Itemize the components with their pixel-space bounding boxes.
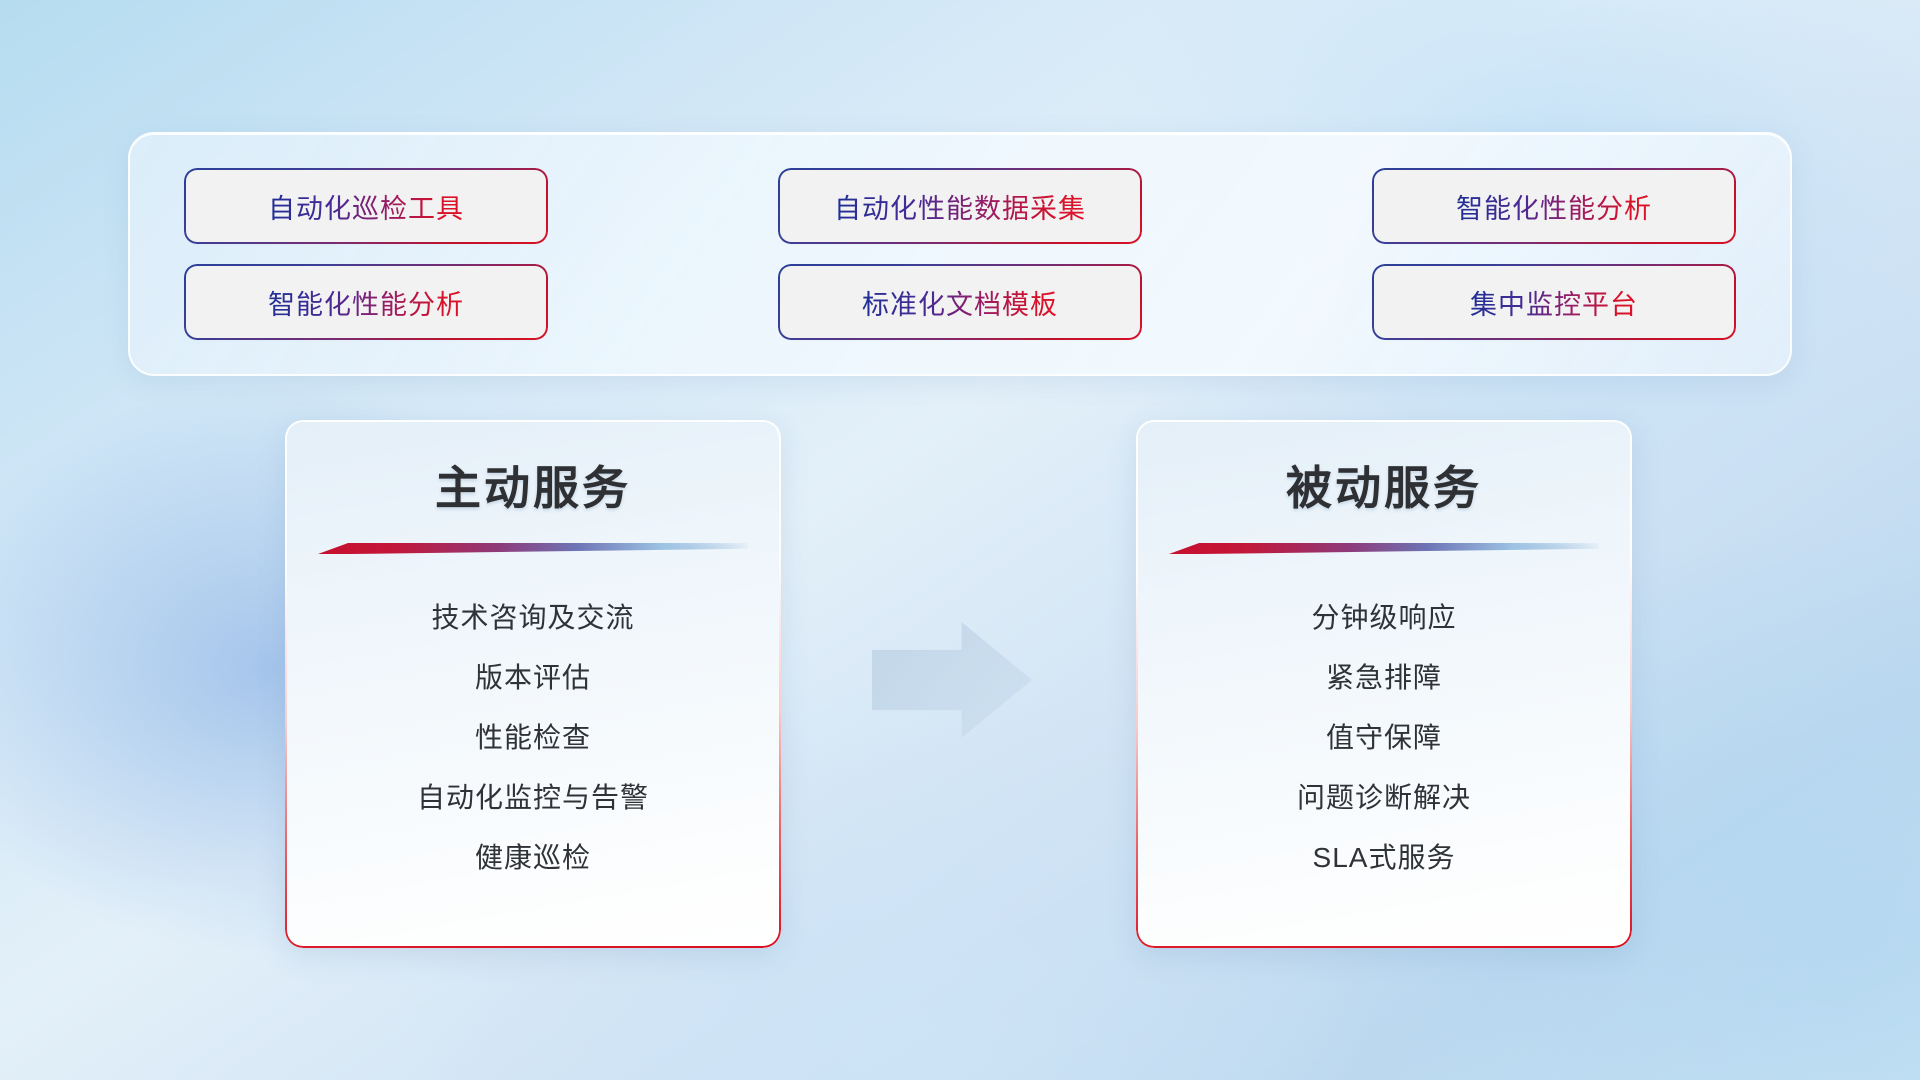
capability-tag[interactable]: 自动化巡检工具 xyxy=(186,170,546,242)
capability-tag-label: 标准化文档模板 xyxy=(862,283,1058,322)
title-divider xyxy=(1169,543,1599,554)
service-item: 技术咨询及交流 xyxy=(285,586,781,646)
service-item-list: 技术咨询及交流 版本评估 性能检查 自动化监控与告警 健康巡检 xyxy=(285,586,781,886)
capability-tag-label: 自动化性能数据采集 xyxy=(834,187,1086,226)
service-item: 值守保障 xyxy=(1136,706,1632,766)
card-title: 主动服务 xyxy=(285,452,781,518)
capabilities-panel: 自动化巡检工具 自动化性能数据采集 智能化性能分析 智能化性能分析 标准化文档模… xyxy=(128,132,1792,376)
capability-tag[interactable]: 智能化性能分析 xyxy=(186,266,546,338)
service-item: 分钟级响应 xyxy=(1136,586,1632,646)
service-item-list: 分钟级响应 紧急排障 值守保障 问题诊断解决 SLA式服务 xyxy=(1136,586,1632,886)
service-item: 自动化监控与告警 xyxy=(285,766,781,826)
service-item: 紧急排障 xyxy=(1136,646,1632,706)
service-item: SLA式服务 xyxy=(1136,826,1632,886)
capability-tag[interactable]: 集中监控平台 xyxy=(1374,266,1734,338)
service-card-active: 主动服务 技术咨询及交流 版本评估 性能检查 自动化监控与告警 健康巡检 xyxy=(285,420,781,948)
service-item: 问题诊断解决 xyxy=(1136,766,1632,826)
capability-tag[interactable]: 自动化性能数据采集 xyxy=(780,170,1140,242)
title-divider xyxy=(318,543,748,554)
capability-tag-label: 智能化性能分析 xyxy=(1456,187,1652,226)
capability-tag[interactable]: 标准化文档模板 xyxy=(780,266,1140,338)
capability-tag-label: 集中监控平台 xyxy=(1470,283,1638,322)
capability-tag-label: 智能化性能分析 xyxy=(268,283,464,322)
arrow-right-icon xyxy=(872,622,1032,738)
card-title: 被动服务 xyxy=(1136,452,1632,518)
service-item: 健康巡检 xyxy=(285,826,781,886)
service-item: 版本评估 xyxy=(285,646,781,706)
service-item: 性能检查 xyxy=(285,706,781,766)
service-card-passive: 被动服务 分钟级响应 紧急排障 值守保障 问题诊断解决 SLA式服务 xyxy=(1136,420,1632,948)
slide-canvas: 自动化巡检工具 自动化性能数据采集 智能化性能分析 智能化性能分析 标准化文档模… xyxy=(0,0,1920,1080)
capability-row-2: 智能化性能分析 标准化文档模板 集中监控平台 xyxy=(186,266,1734,338)
capability-row-1: 自动化巡检工具 自动化性能数据采集 智能化性能分析 xyxy=(186,170,1734,242)
capability-tag-label: 自动化巡检工具 xyxy=(268,187,464,226)
capability-tag[interactable]: 智能化性能分析 xyxy=(1374,170,1734,242)
